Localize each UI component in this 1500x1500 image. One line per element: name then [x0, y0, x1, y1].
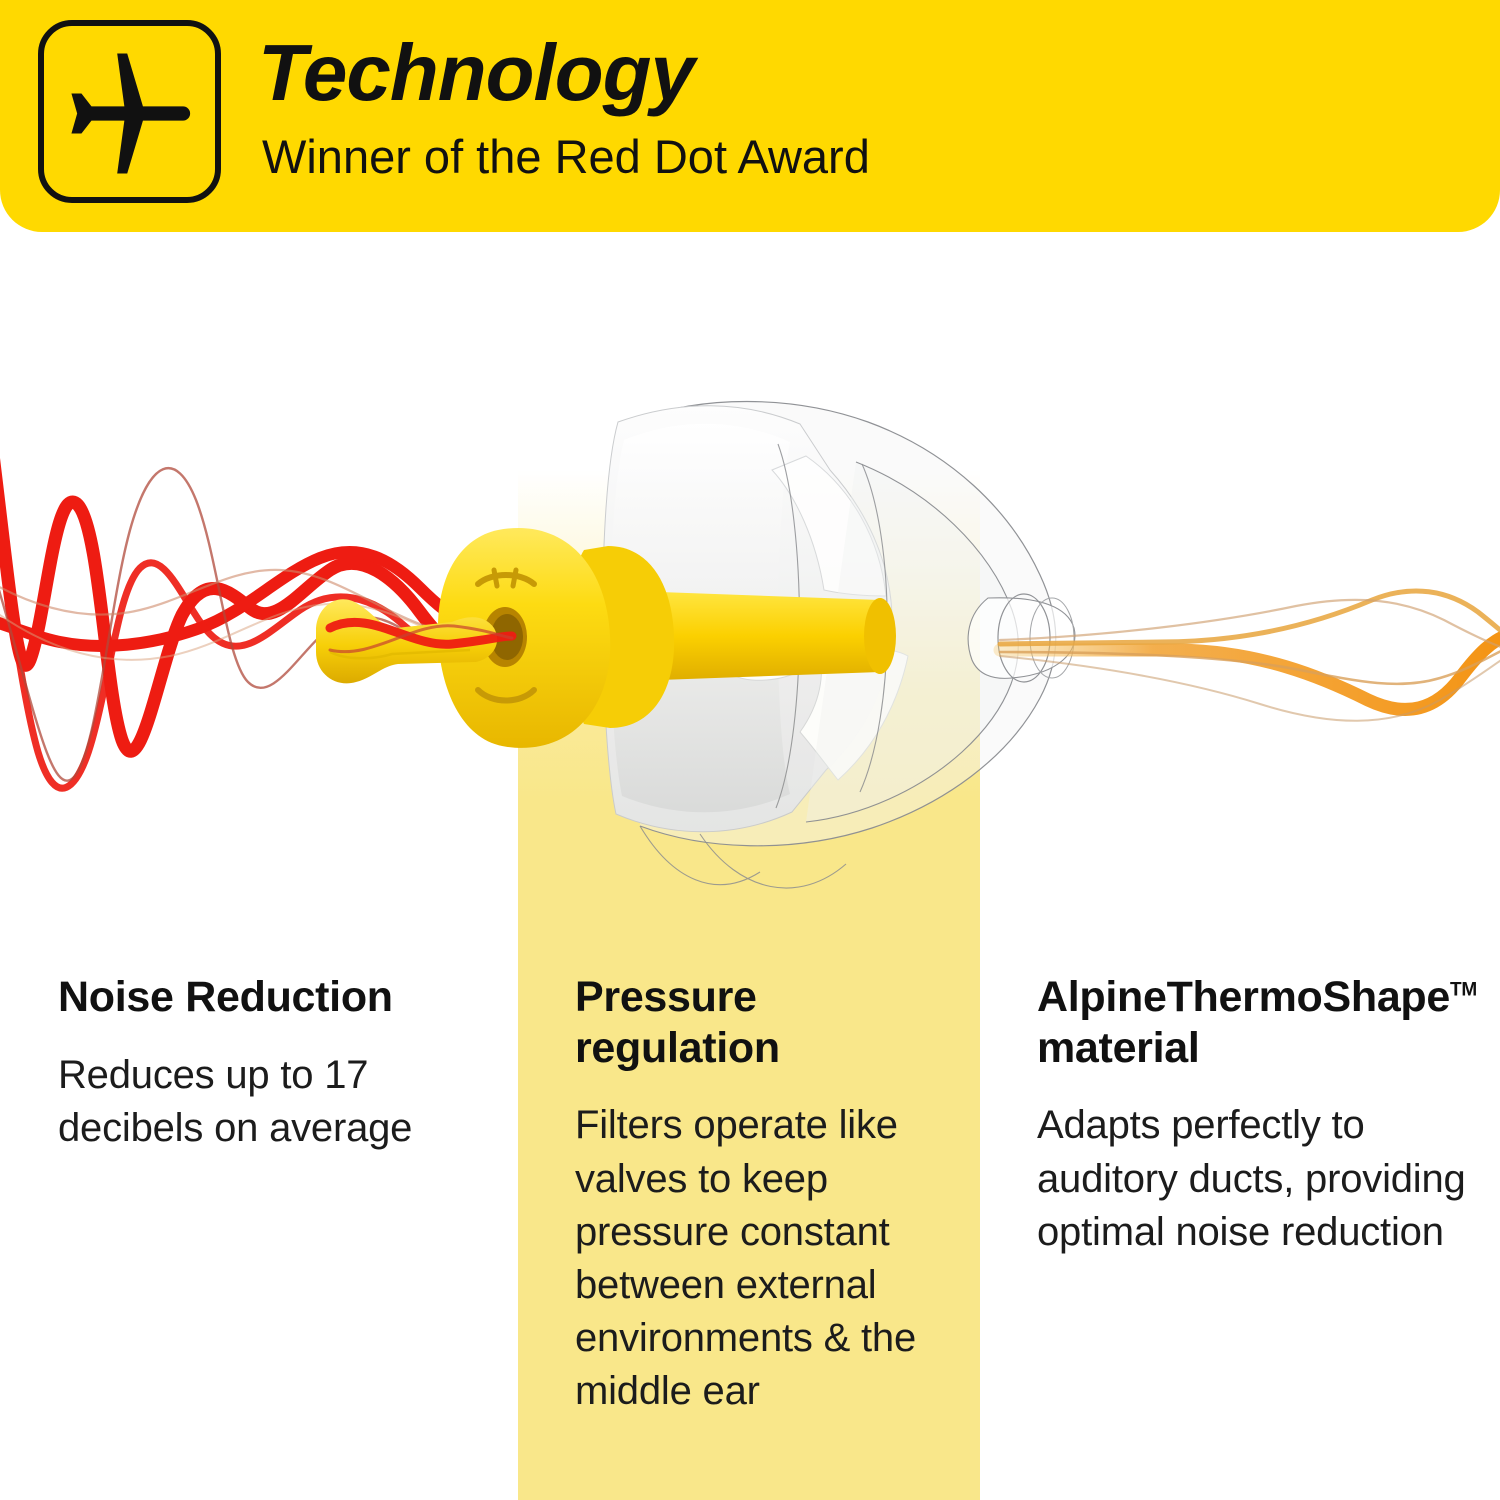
feature-heading-brand: AlpineThermoShape: [1037, 973, 1450, 1021]
pressure-filter: [660, 592, 896, 680]
feature-noise-reduction: Noise Reduction Reduces up to 17 decibel…: [58, 972, 478, 1155]
page-title: Technology: [258, 33, 694, 113]
feature-heading: Pressure regulation: [575, 972, 955, 1073]
feature-heading-line2: material: [1037, 1024, 1200, 1072]
feature-body: Filters operate like valves to keep pres…: [575, 1099, 955, 1418]
product-infographic: Technology Winner of the Red Dot Award: [0, 0, 1500, 1500]
airplane-icon: [38, 20, 221, 203]
feature-body: Adapts perfectly to auditory ducts, prov…: [1037, 1099, 1467, 1259]
feature-heading: Noise Reduction: [58, 972, 478, 1023]
earplug-cutaway-diagram: [0, 360, 1500, 920]
outgoing-sound-waves: [1000, 591, 1500, 721]
feature-body: Reduces up to 17 decibels on average: [58, 1049, 478, 1155]
feature-heading: AlpineThermoShapeTM material: [1037, 972, 1467, 1073]
feature-alpinethermoshape-material: AlpineThermoShapeTM material Adapts perf…: [1037, 972, 1467, 1259]
header-banner: Technology Winner of the Red Dot Award: [0, 0, 1500, 232]
feature-columns: Noise Reduction Reduces up to 17 decibel…: [0, 972, 1500, 1500]
feature-pressure-regulation: Pressure regulation Filters operate like…: [575, 972, 955, 1419]
page-subtitle: Winner of the Red Dot Award: [262, 131, 870, 183]
trademark-symbol: TM: [1450, 980, 1477, 1001]
